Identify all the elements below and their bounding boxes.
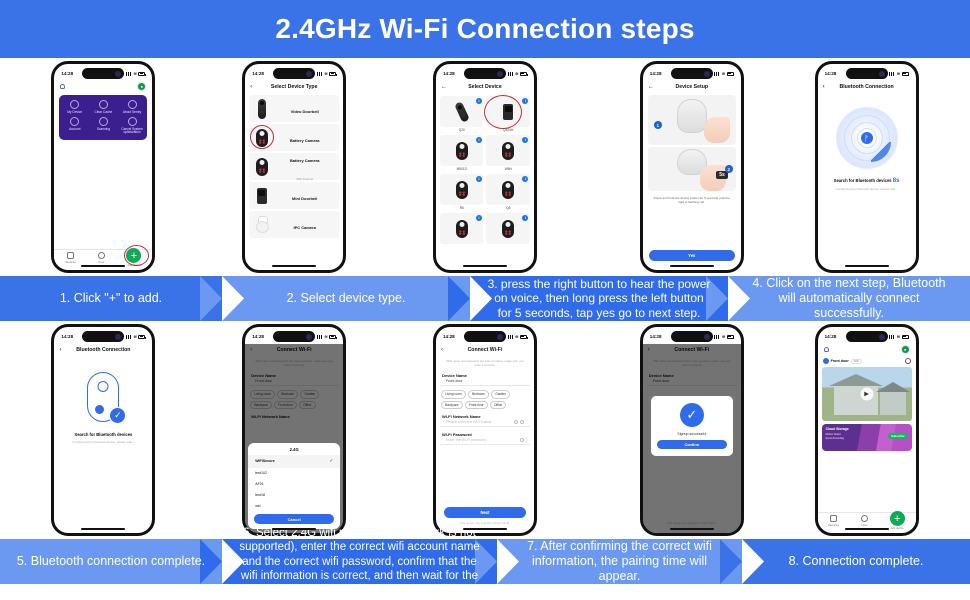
signal-icon (508, 72, 514, 76)
settings-grid: My Device Clear Cache About Sentry Accou… (59, 95, 147, 140)
phone-slot-1: 14:28 ≋ ● My Device Clear Cache About Se… (9, 61, 197, 273)
list-item[interactable]: Mini Doorbell (249, 182, 339, 209)
bell-icon[interactable] (60, 84, 65, 89)
subscribe-button[interactable]: Subscribe (888, 433, 908, 439)
caption-step-4: 4. Click on the next step, Bluetooth wil… (728, 276, 970, 321)
wifi-icon: ≋ (134, 71, 137, 76)
caption-text: 3. press the right button to hear the po… (486, 277, 712, 321)
menu-label: Account (69, 128, 81, 132)
page-title: 2.4GHz Wi-Fi Connection steps (275, 13, 694, 45)
home-indicator (463, 265, 507, 267)
play-icon[interactable]: ▶ (860, 388, 873, 401)
phone-slot-7: 14:28 ≋ ‹ Connect Wi-Fi WiFi name and pa… (200, 324, 388, 536)
dialog-message: Signup successful (657, 432, 727, 436)
device-icon (70, 100, 79, 109)
info-icon (128, 100, 137, 109)
device-label: M501D (440, 167, 484, 171)
chip-bedroom[interactable]: Bedroom (468, 390, 489, 399)
menu-item-cancel-optimization[interactable]: Cancel System optimization (119, 117, 146, 135)
radar-beam (871, 142, 891, 162)
tab-label: User (98, 260, 104, 264)
highlight-ring-battery-camera (250, 125, 274, 149)
caption-step-1: 1. Click "+" to add. (0, 276, 222, 321)
device-label: W5H (486, 167, 530, 171)
info-icon[interactable]: i (522, 215, 528, 221)
caption-text: 5. Bluetooth connection complete. (17, 554, 205, 569)
notch (273, 331, 315, 342)
step-badge-1: 1 (654, 121, 662, 129)
phone-slot-4: 14:28 ≋ ← Device Setup 1 (582, 61, 770, 273)
network-ssid: WiFiSecure (255, 459, 275, 463)
gear-icon[interactable] (905, 358, 911, 364)
wifi-icon: ≋ (722, 334, 725, 339)
caption-text: 4. Click on the next step, Bluetooth wil… (744, 276, 954, 322)
network-option[interactable]: test18 (248, 489, 340, 500)
network-ssid: AF01 (255, 482, 264, 486)
phones-row-2: 14:28 ≋ ‹ Bluetooth Connection ✓ Search … (0, 321, 970, 539)
caption-step-8: 8. Connection complete. (742, 539, 970, 584)
phone-slot-2: 14:28 ≋ ‹ Select Device Type Video Doorb… (200, 61, 388, 273)
device-label: Q20 (440, 128, 484, 132)
chip-living-room[interactable]: Living room (441, 390, 466, 399)
phone-slot-10: 14:28 ≋ ● Front door WiFi (773, 324, 961, 536)
clear-icon[interactable] (514, 420, 518, 424)
device-image (456, 181, 468, 199)
back-icon[interactable]: ← (441, 84, 447, 90)
device-image (502, 220, 514, 238)
network-ssid: wsl (255, 504, 260, 508)
network-option[interactable]: AF01 (248, 479, 340, 490)
camera-illustration (677, 99, 707, 133)
house-illustration-2 (880, 391, 906, 415)
phone-8-wifi-form: 14:28 ≋ ‹ Connect Wi-Fi WiFi name and pa… (433, 324, 537, 536)
notch (671, 331, 713, 342)
confirm-button[interactable]: Confirm (657, 440, 727, 449)
bluetooth-icon: ᚠ (861, 132, 873, 144)
phone-6-bluetooth-complete: 14:28 ≋ ‹ Bluetooth Connection ✓ Search … (51, 324, 155, 536)
poster-page: 2.4GHz Wi-Fi Connection steps 14:28 ≋ ● … (0, 0, 970, 600)
menu-label: Scanning (97, 128, 110, 132)
lens-icon (98, 381, 109, 392)
wifi-icon: ≋ (324, 71, 327, 76)
list-item-label: Battery Camera (290, 138, 320, 143)
phone-9-screen: ‹ Connect Wi-Fi WiFi name and password a… (643, 344, 741, 533)
notch (82, 331, 124, 342)
home-indicator (670, 265, 714, 267)
status-time: 14:28 (650, 334, 662, 339)
nav-bar: ‹ Bluetooth Connection (54, 344, 152, 356)
password-label: Wi-Fi Password (436, 429, 534, 438)
menu-item-scanning[interactable]: Scanning (90, 117, 117, 135)
setup-illustration-2: 5s 2 (648, 147, 736, 191)
list-item[interactable]: Battery CameraWith Antenna (249, 153, 339, 180)
device-tile[interactable]: i Q520H (486, 96, 530, 132)
device-tile[interactable]: i (486, 213, 530, 244)
signal-icon (889, 72, 895, 76)
status-time: 14:28 (61, 71, 73, 76)
phone-7-screen: ‹ Connect Wi-Fi WiFi name and password a… (245, 344, 343, 533)
home-indicator (81, 528, 125, 530)
nav-bar: ‹ Bluetooth Connection (818, 81, 916, 93)
password-input[interactable]: Enter the Wi-Fi password (440, 438, 530, 445)
bell-icon[interactable] (824, 347, 829, 352)
notch (464, 68, 506, 79)
device-image (454, 101, 470, 123)
wifi-icon: ≋ (324, 334, 327, 339)
sheet-title: 2.4G (248, 443, 340, 455)
caption-step-6: 6. Select 2.4G wifi network (5G network … (222, 539, 497, 584)
home-indicator (81, 265, 125, 267)
device-tile[interactable]: i W5H (486, 135, 530, 171)
home-indicator (845, 528, 889, 530)
network-placeholder: Please enter the Wi-Fi name (446, 420, 492, 424)
wifi-icon: ≋ (515, 71, 518, 76)
tab-devices[interactable]: Devices (65, 252, 76, 264)
back-icon[interactable]: ‹ (250, 84, 252, 90)
account-icon (70, 117, 79, 126)
battery-icon (329, 335, 336, 339)
notch (82, 68, 124, 79)
caption-step-3: 3. press the right button to hear the po… (470, 276, 728, 321)
device-image (502, 181, 514, 199)
info-icon[interactable]: i (476, 137, 482, 143)
tab-label: Devices (65, 260, 76, 264)
caption-row-1: 1. Click "+" to add. 2. Select device ty… (0, 276, 970, 321)
phone-1-screen: ● My Device Clear Cache About Sentry Acc… (54, 81, 152, 270)
home-indicator (845, 265, 889, 267)
form-note: WiFi name and password are case-sensitiv… (436, 356, 534, 370)
cloud-storage-banner[interactable]: Cloud Storage Motion Detect Event Record… (822, 424, 912, 451)
search-label: Search for Bluetooth devices (834, 178, 892, 183)
device-tile[interactable]: i (440, 213, 484, 244)
phone-3-screen: ← Select Device i Q20 i Q520H (436, 81, 534, 270)
chip-office[interactable]: Office (490, 401, 507, 410)
user-icon (98, 252, 105, 259)
battery-icon (902, 72, 909, 76)
device-header[interactable]: Front door WiFi (818, 355, 916, 367)
network-option[interactable]: WiFiSecure✓ (248, 455, 340, 468)
info-icon[interactable]: i (522, 176, 528, 182)
signal-icon (889, 335, 895, 339)
camera-preview[interactable]: ▶ (822, 367, 912, 421)
phone-10-screen: ● Front door WiFi ▶ Cloud Storage (818, 344, 916, 533)
signal-icon (317, 335, 323, 339)
footer-note: This device only supports 2.4GHz Wi-Fi. (436, 521, 534, 525)
device-outline-illustration: ✓ (87, 372, 119, 422)
indicator-dot (95, 405, 104, 414)
devices-icon (830, 515, 837, 522)
avatar[interactable]: ● (901, 345, 910, 354)
menu-label: Clear Cache (95, 111, 113, 115)
phones-row-1: 14:28 ≋ ● My Device Clear Cache About Se… (0, 58, 970, 276)
device-tile[interactable]: i M501D (440, 135, 484, 171)
back-icon[interactable]: ‹ (823, 84, 825, 90)
phone-9-success-dialog: 14:28 ≋ ‹ Connect Wi-Fi WiFi name and pa… (640, 324, 744, 536)
success-check-icon: ✓ (109, 407, 126, 424)
notch (671, 68, 713, 79)
screen-title: Bluetooth Connection (818, 84, 916, 90)
bluetooth-radar: ᚠ (836, 107, 898, 169)
caption-text: 6. Select 2.4G wifi network (5G network … (238, 526, 481, 596)
screen-title: Bluetooth Connection (54, 347, 152, 353)
device-tile[interactable]: i Q6 (486, 174, 530, 210)
device-name-input[interactable]: Front door (440, 379, 530, 386)
step-badge-2: 2 (725, 165, 733, 173)
check-icon: ✓ (329, 458, 333, 464)
back-icon[interactable]: ‹ (441, 347, 443, 353)
tab-label: Devices (828, 523, 839, 527)
list-item[interactable]: Battery Camera (249, 124, 339, 151)
devices-icon (67, 252, 74, 259)
info-icon[interactable]: i (476, 98, 482, 104)
phone-10-device-list: 14:28 ≋ ● Front door WiFi (815, 324, 919, 536)
status-time: 14:28 (443, 71, 455, 76)
device-image (456, 142, 468, 160)
add-device-button[interactable]: +Add device (890, 511, 905, 530)
yes-button[interactable]: Yes (649, 250, 735, 261)
nav-bar: ← Select Device (436, 81, 534, 93)
signal-icon (714, 72, 720, 76)
refresh-icon[interactable] (520, 420, 524, 424)
info-icon[interactable]: i (522, 98, 528, 104)
battery-icon (727, 335, 734, 339)
signal-tag: WiFi (851, 359, 862, 364)
chip-backyard[interactable]: Backyard (441, 401, 463, 410)
tab-label: User (861, 523, 867, 527)
network-picker-sheet: 2.4G WiFiSecure✓ test102 AF01 test18 wsl… (248, 443, 340, 529)
network-option[interactable]: test102 (248, 468, 340, 479)
menu-label: My Device (67, 111, 82, 115)
caption-row-2: 5. Bluetooth connection complete. 6. Sel… (0, 539, 970, 584)
mini-doorbell-icon (253, 185, 270, 207)
phone-slot-3: 14:28 ≋ ← Select Device i Q20 i (391, 61, 579, 273)
caption-text: 7. After confirming the correct wifi inf… (513, 539, 726, 585)
battery-icon (329, 72, 336, 76)
tab-label: Add device (891, 527, 904, 530)
notch (846, 331, 888, 342)
tab-user[interactable]: User (861, 515, 868, 527)
user-icon (861, 515, 868, 522)
caption-step-7: 7. After confirming the correct wifi inf… (497, 539, 742, 584)
network-input[interactable]: Please enter the Wi-Fi name (440, 420, 530, 427)
menu-item-account[interactable]: Account (61, 117, 88, 135)
device-image (456, 220, 468, 238)
page-header: 2.4GHz Wi-Fi Connection steps (0, 0, 970, 58)
caption-text: 2. Select device type. (287, 291, 406, 306)
status-time: 14:28 (443, 334, 455, 339)
device-grid: i Q20 i Q520H i M501D i (436, 93, 534, 247)
home-indicator (670, 528, 714, 530)
phone-2-select-device-type: 14:28 ≋ ‹ Select Device Type Video Doorb… (242, 61, 346, 273)
notch (464, 331, 506, 342)
nav-bar: ← Device Setup (643, 81, 741, 93)
room-chips: Living room Bedroom Garden Backyard Fron… (436, 388, 534, 411)
menu-item-about[interactable]: About Sentry (119, 100, 146, 115)
status-time: 14:28 (650, 71, 662, 76)
list-item-label: Mini Doorbell (292, 196, 317, 201)
phone-slot-5: 14:28 ≋ ‹ Bluetooth Connection ᚠ (773, 61, 961, 273)
menu-item-my-device[interactable]: My Device (61, 100, 88, 115)
list-item[interactable]: IPC Camera (249, 211, 339, 238)
search-status: Search for Bluetooth devices 8s (818, 178, 916, 184)
signal-icon (714, 335, 720, 339)
status-time: 14:28 (61, 334, 73, 339)
avatar[interactable]: ● (137, 82, 146, 91)
status-time: 14:28 (252, 334, 264, 339)
cancel-icon (128, 117, 137, 126)
wifi-icon: ≋ (515, 334, 518, 339)
menu-label: About Sentry (123, 111, 141, 115)
phone-2-screen: ‹ Select Device Type Video Doorbell Batt… (245, 81, 343, 270)
next-button[interactable]: Next (444, 507, 526, 518)
countdown-timer: 8s (893, 178, 900, 184)
screen-title: Select Device Type (245, 84, 343, 90)
signal-icon (126, 72, 132, 76)
phone-1-topbar: ● (54, 81, 152, 92)
status-time: 14:28 (825, 334, 837, 339)
tab-bar: Devices User +Add device (818, 512, 916, 528)
menu-label: Cancel System optimization (119, 128, 146, 135)
back-icon[interactable]: ← (648, 84, 654, 90)
chip-front-door[interactable]: Front door (465, 401, 488, 410)
trash-icon (99, 100, 108, 109)
device-tile[interactable]: i R6 (440, 174, 484, 210)
device-image (502, 142, 514, 160)
nav-bar: ‹ Select Device Type (245, 81, 343, 93)
password-placeholder: Enter the Wi-Fi password (446, 438, 486, 442)
nav-bar: ‹ Connect Wi-Fi (436, 344, 534, 356)
phone-slot-9: 14:28 ≋ ‹ Connect Wi-Fi WiFi name and pa… (582, 324, 770, 536)
doorbell-icon (253, 98, 270, 120)
signal-icon (126, 335, 132, 339)
chip-garden[interactable]: Garden (491, 390, 510, 399)
phone-3-select-device: 14:28 ≋ ← Select Device i Q20 i (433, 61, 537, 273)
info-icon[interactable]: i (476, 176, 482, 182)
phone-8-screen: ‹ Connect Wi-Fi WiFi name and password a… (436, 344, 534, 533)
battery-icon (727, 72, 734, 76)
hand-illustration (704, 117, 730, 143)
setup-caption: Press and hold the device button for 5 s… (643, 193, 741, 208)
list-item-label: Battery Camera (290, 158, 320, 163)
device-name: Front door (831, 359, 849, 363)
device-icon (823, 358, 829, 364)
caption-text: 1. Click "+" to add. (60, 291, 162, 306)
device-label: R6 (440, 206, 484, 210)
search-subtext: Configuring the bluetooth device, please… (818, 187, 916, 191)
battery-icon (138, 335, 145, 339)
home-indicator (272, 528, 316, 530)
battery-camera-antenna-icon (253, 156, 270, 178)
phone-5-screen: ‹ Bluetooth Connection ᚠ Search for Blue… (818, 81, 916, 270)
wifi-icon: ≋ (897, 71, 900, 76)
search-label: Search for Bluetooth devices (54, 432, 152, 437)
phone-slot-8: 14:28 ≋ ‹ Connect Wi-Fi WiFi name and pa… (391, 324, 579, 536)
device-name-label: Device Name (436, 370, 534, 379)
tab-user[interactable]: User (98, 252, 105, 264)
phone-4-screen: ← Device Setup 1 5s 2 Press and hol (643, 81, 741, 270)
device-label: Q6 (486, 206, 530, 210)
notch (846, 68, 888, 79)
battery-icon (520, 72, 527, 76)
signal-icon (317, 72, 323, 76)
cancel-button[interactable]: Cancel (254, 514, 334, 524)
home-indicator (463, 528, 507, 530)
status-time: 14:28 (825, 71, 837, 76)
eye-icon[interactable] (520, 438, 524, 442)
network-label: Wi-Fi Network Name (436, 411, 534, 420)
phone-4-device-setup: 14:28 ≋ ← Device Setup 1 (640, 61, 744, 273)
caption-step-2: 2. Select device type. (222, 276, 470, 321)
screen-title: Connect Wi-Fi (436, 347, 534, 353)
phone-6-screen: ‹ Bluetooth Connection ✓ Search for Blue… (54, 344, 152, 533)
menu-item-clear-cache[interactable]: Clear Cache (90, 100, 117, 115)
list-item-label: IPC Camera (293, 225, 315, 230)
status-time: 14:28 (252, 71, 264, 76)
info-icon[interactable]: i (476, 215, 482, 221)
wifi-icon: ≋ (134, 334, 137, 339)
network-ssid: test102 (255, 471, 267, 475)
success-check-icon: ✓ (680, 403, 704, 427)
phone-10-topbar: ● (818, 344, 916, 355)
battery-icon (520, 335, 527, 339)
network-option[interactable]: wsl (248, 500, 340, 511)
screen-title: Select Device (436, 84, 534, 90)
phone-1-home: 14:28 ≋ ● My Device Clear Cache About Se… (51, 61, 155, 273)
network-ssid: test18 (255, 493, 265, 497)
success-dialog: ✓ Signup successful Confirm (651, 396, 733, 456)
battery-icon (138, 72, 145, 76)
notch (273, 68, 315, 79)
home-indicator (272, 265, 316, 267)
phone-slot-6: 14:28 ≋ ‹ Bluetooth Connection ✓ Search … (9, 324, 197, 536)
info-icon[interactable]: i (522, 137, 528, 143)
screen-title: Device Setup (643, 84, 741, 90)
wifi-icon: ≋ (722, 71, 725, 76)
caption-step-5: 5. Bluetooth connection complete. (0, 539, 222, 584)
ipc-camera-icon (253, 214, 270, 236)
cloud-title: Cloud Storage (826, 427, 908, 431)
device-label: Q520H (486, 128, 530, 132)
signal-icon (508, 335, 514, 339)
list-item-sub: With Antenna (296, 177, 313, 181)
scan-icon (99, 117, 108, 126)
list-item[interactable]: Video Doorbell (249, 95, 339, 122)
device-tile[interactable]: i Q20 (440, 96, 484, 132)
back-icon[interactable]: ‹ (59, 347, 61, 353)
phone-7-wifi-picker: 14:28 ≋ ‹ Connect Wi-Fi WiFi name and pa… (242, 324, 346, 536)
battery-icon (902, 335, 909, 339)
plus-icon: + (890, 511, 905, 526)
list-item-label: Video Doorbell (291, 109, 319, 114)
tab-devices[interactable]: Devices (828, 515, 839, 527)
caption-text: 8. Connection complete. (789, 554, 924, 569)
search-subtext: Configuring the bluetooth device, please… (54, 440, 152, 444)
setup-illustration-1: 1 (648, 95, 736, 145)
phone-5-bluetooth-search: 14:28 ≋ ‹ Bluetooth Connection ᚠ (815, 61, 919, 273)
wifi-icon: ≋ (897, 334, 900, 339)
